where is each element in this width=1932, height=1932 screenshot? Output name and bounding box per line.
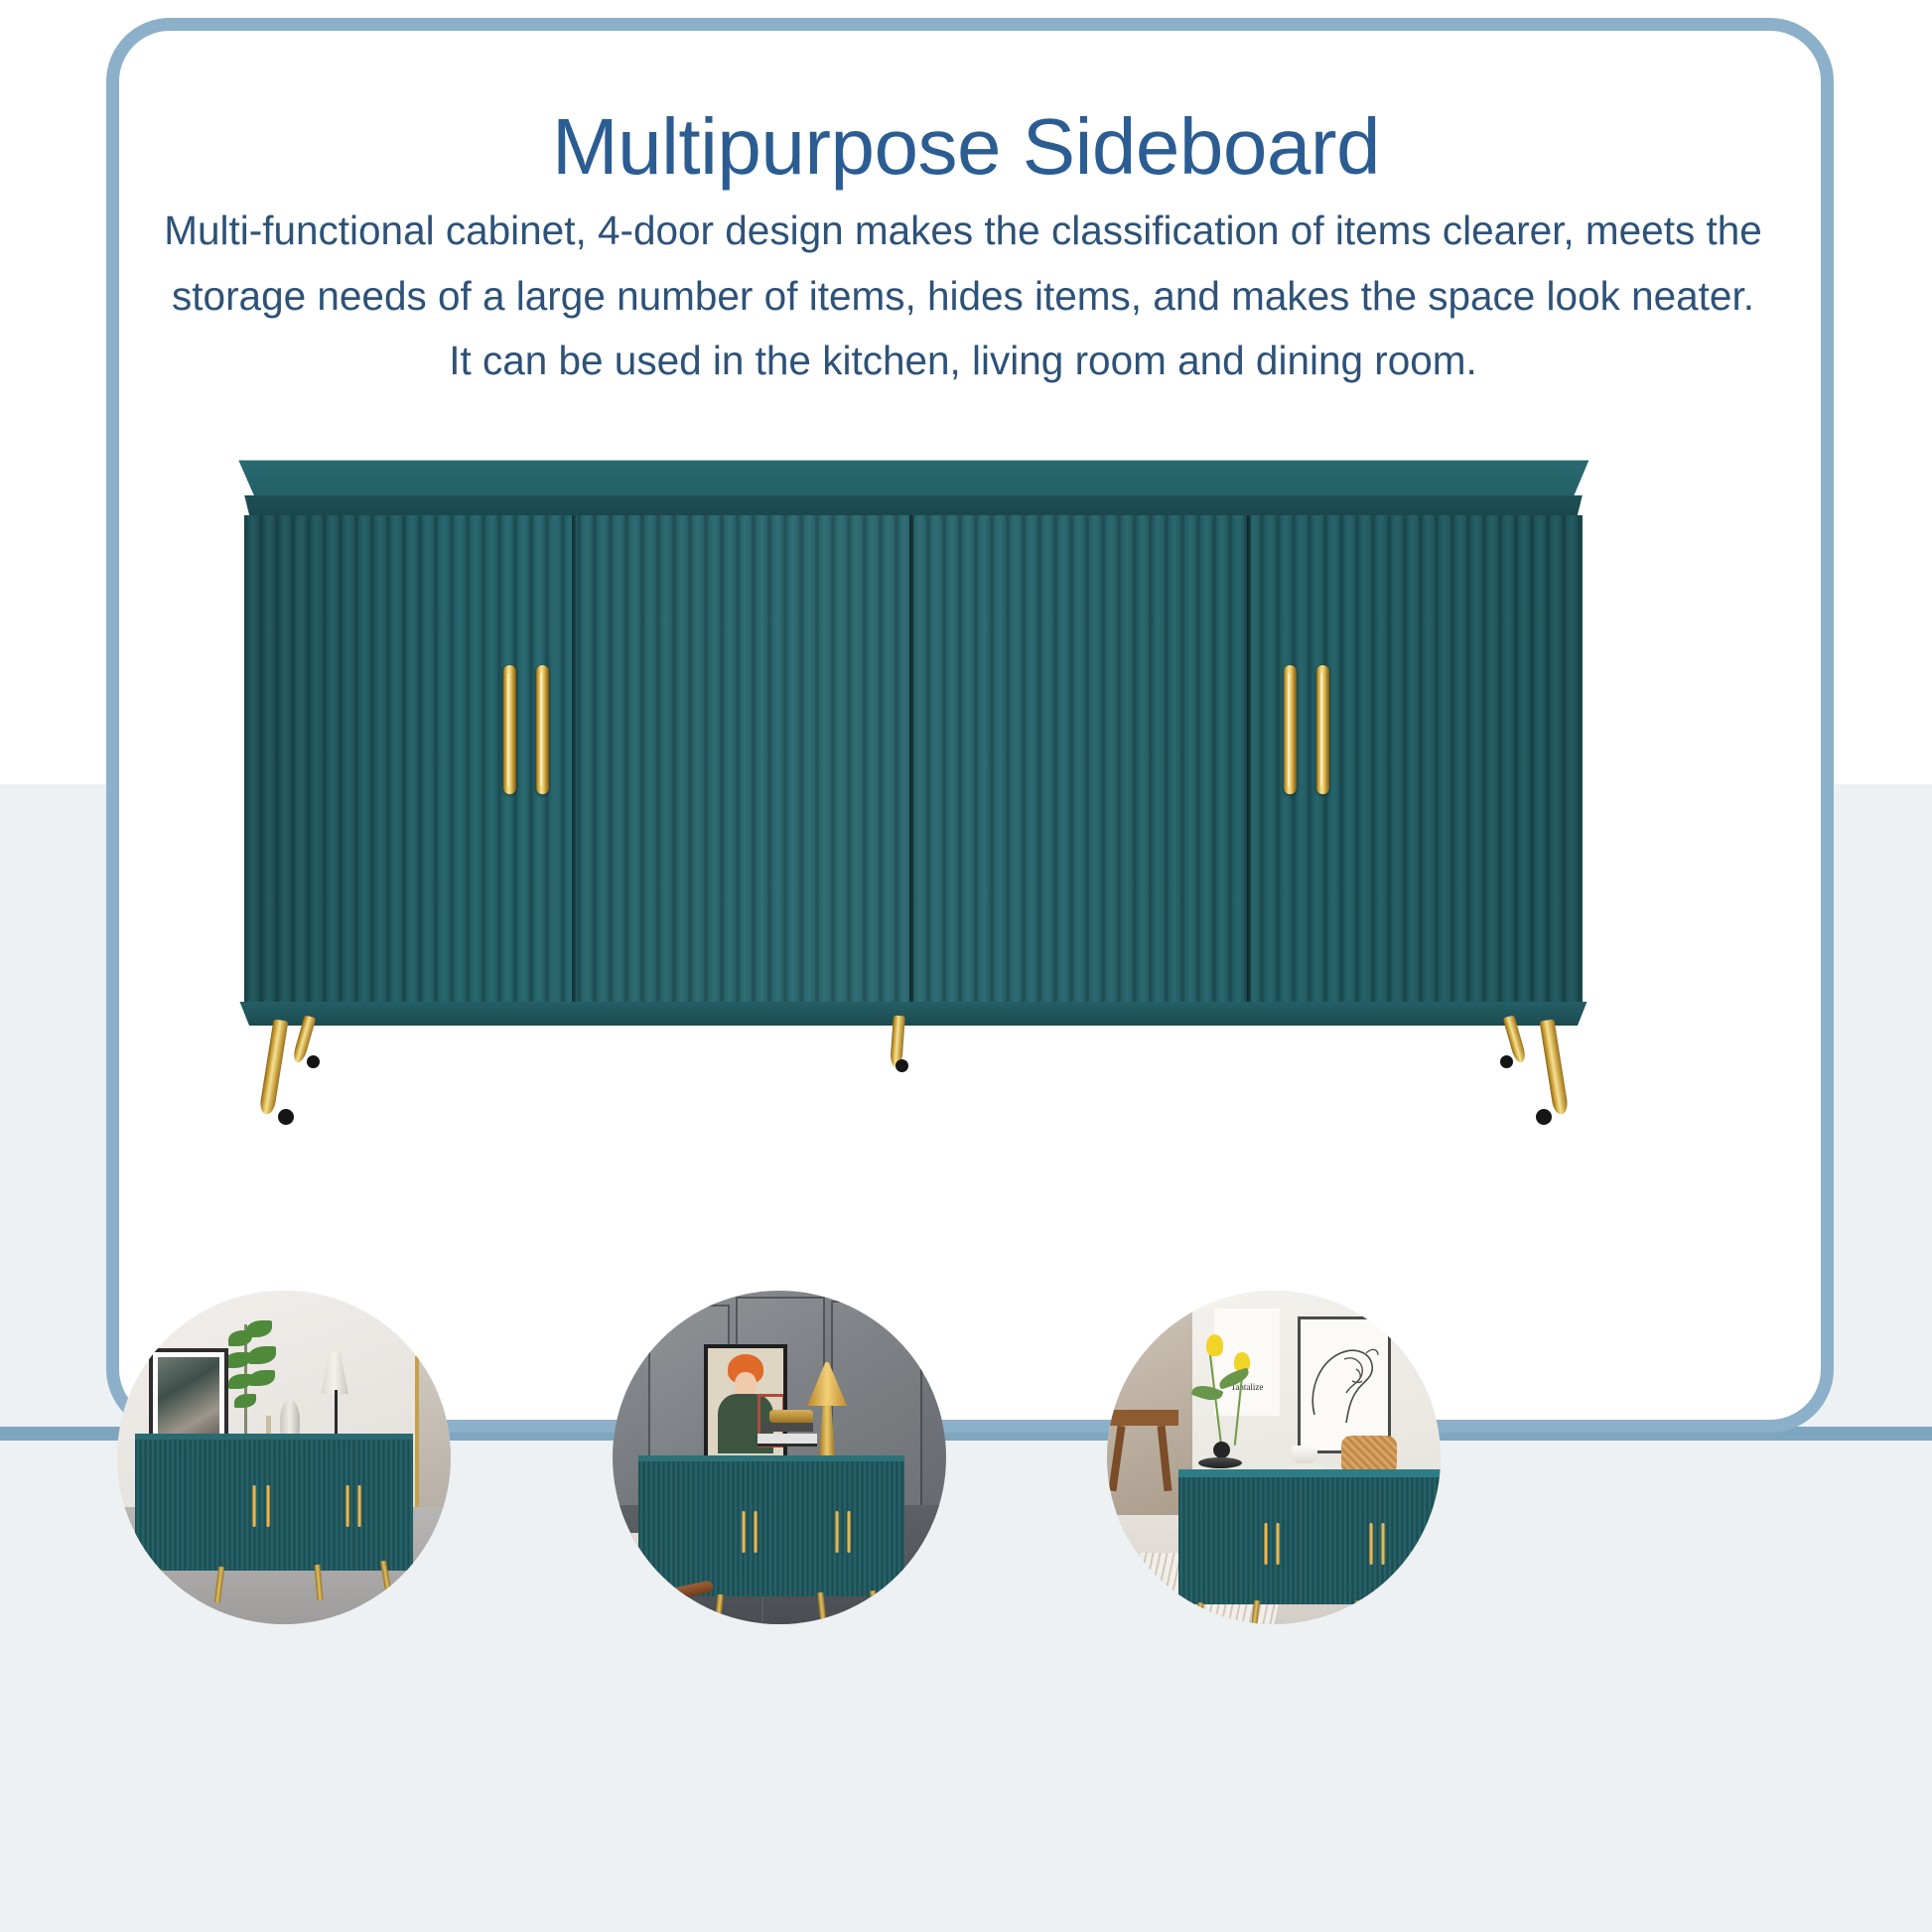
fluted-texture bbox=[1178, 1477, 1441, 1604]
gold-tray bbox=[769, 1410, 813, 1423]
vase-tray bbox=[1198, 1457, 1242, 1468]
description-line-3: It can be used in the kitchen, living ro… bbox=[149, 329, 1777, 394]
fluted-texture bbox=[135, 1440, 413, 1571]
hero-product-image bbox=[228, 452, 1598, 1057]
gallery-thumbnail-3[interactable]: Tantalize bbox=[1107, 1291, 1441, 1624]
teacup bbox=[1292, 1446, 1317, 1464]
leg-tip-front-left bbox=[278, 1109, 294, 1125]
thumb-1-scene bbox=[117, 1291, 451, 1624]
yellow-tulip bbox=[1206, 1334, 1223, 1356]
page-title: Multipurpose Sideboard bbox=[0, 105, 1932, 189]
door-handle bbox=[835, 1511, 839, 1553]
door-handle bbox=[847, 1511, 851, 1553]
leg-tip-center bbox=[896, 1059, 908, 1072]
door-handle bbox=[742, 1511, 746, 1553]
door-handle bbox=[252, 1485, 256, 1527]
door-handle-1[interactable] bbox=[503, 665, 516, 794]
gallery-thumbnail-1[interactable] bbox=[117, 1291, 451, 1624]
wooden-table bbox=[1107, 1410, 1178, 1426]
description-line-2: storage needs of a large number of items… bbox=[149, 264, 1777, 330]
door-handle-3[interactable] bbox=[1284, 665, 1297, 794]
sideboard-body bbox=[135, 1440, 413, 1571]
door-seam-3 bbox=[1247, 515, 1251, 1002]
door-handle-4[interactable] bbox=[1316, 665, 1329, 794]
sideboard-shading bbox=[244, 515, 1583, 1002]
thumb-2-scene bbox=[613, 1291, 946, 1624]
thumb-3-scene: Tantalize bbox=[1107, 1291, 1441, 1624]
line-art-portrait-svg bbox=[1301, 1319, 1382, 1445]
description-line-1: Multi-functional cabinet, 4-door design … bbox=[149, 199, 1777, 264]
sideboard-door-panel bbox=[244, 515, 1583, 1002]
fluted-texture bbox=[638, 1461, 904, 1596]
sideboard-body bbox=[638, 1461, 904, 1596]
sideboard-base-rail bbox=[234, 1002, 1592, 1026]
gallery-thumbnail-2[interactable] bbox=[613, 1291, 946, 1624]
leg-tip-back-right bbox=[1500, 1055, 1513, 1068]
door-seam-1 bbox=[572, 515, 576, 1002]
sideboard-top-edge bbox=[236, 495, 1590, 517]
black-vase bbox=[1213, 1442, 1230, 1458]
door-handle-2[interactable] bbox=[536, 665, 549, 794]
door-handle bbox=[266, 1485, 270, 1527]
door-handle bbox=[357, 1485, 361, 1527]
door-handle bbox=[754, 1511, 758, 1553]
book-stack-upper bbox=[761, 1423, 813, 1432]
door-handle bbox=[1369, 1523, 1373, 1565]
art-image bbox=[158, 1357, 219, 1445]
door-handle bbox=[1264, 1523, 1268, 1565]
sideboard-body bbox=[1178, 1477, 1441, 1604]
door-handle bbox=[1381, 1523, 1385, 1565]
line-art-portrait-poster bbox=[1298, 1316, 1391, 1453]
door-handle bbox=[1276, 1523, 1280, 1565]
door-seam-2 bbox=[909, 515, 913, 1002]
sideboard-top-surface bbox=[228, 452, 1598, 499]
leg-tip-back-left bbox=[307, 1055, 320, 1068]
leg-tip-front-right bbox=[1536, 1109, 1552, 1125]
rattan-basket bbox=[1341, 1436, 1397, 1471]
book-stack-lower bbox=[758, 1434, 817, 1447]
product-description: Multi-functional cabinet, 4-door design … bbox=[149, 199, 1777, 394]
door-handle bbox=[345, 1485, 349, 1527]
